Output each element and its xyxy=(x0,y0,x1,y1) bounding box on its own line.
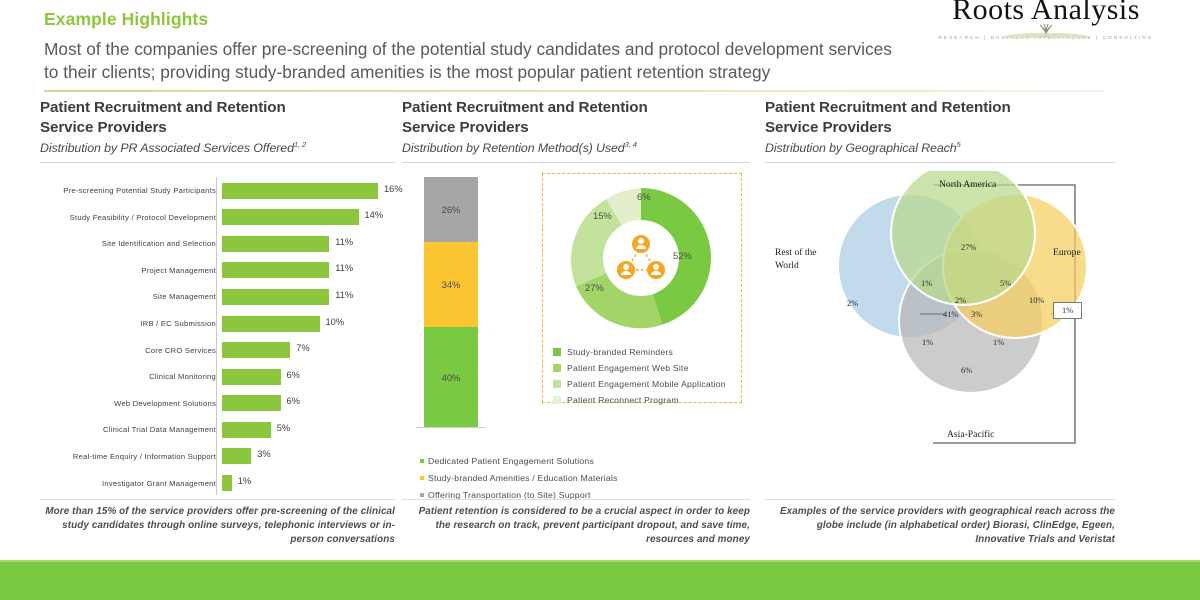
bar-row: Pre-screening Potential Study Participan… xyxy=(40,177,395,204)
bar-value: 6% xyxy=(287,396,300,406)
bar-fill xyxy=(222,422,271,438)
panel-services-offered: Patient Recruitment and Retention Servic… xyxy=(40,98,395,553)
panel2-title-line2: Service Providers xyxy=(402,118,750,138)
venn-value-center: 41% xyxy=(943,310,958,319)
stacked-segment: 34% xyxy=(424,242,478,327)
bar-row: Site Identification and Selection11% xyxy=(40,230,395,257)
donut-legend-item: Patient Engagement Web Site xyxy=(553,360,733,376)
bar-track: 11% xyxy=(222,236,395,252)
venn-value-na-eu-row: 2% xyxy=(955,296,966,305)
panel3-subtitle-sup: 5 xyxy=(957,140,961,149)
donut-legend-label: Study-branded Reminders xyxy=(567,347,673,357)
bar-value: 1% xyxy=(238,476,251,486)
panel3-note: Examples of the service providers with g… xyxy=(765,499,1115,547)
bar-fill xyxy=(222,395,281,411)
panel-retention-methods: Patient Recruitment and Retention Servic… xyxy=(402,98,750,553)
panel1-note: More than 15% of the service providers o… xyxy=(40,499,395,547)
panel1-title-line1: Patient Recruitment and Retention xyxy=(40,98,395,118)
bar-row: Clinical Monitoring6% xyxy=(40,363,395,390)
donut-legend-item: Patient Engagement Mobile Application xyxy=(553,376,733,392)
venn-value-na-eu-ap: 3% xyxy=(971,310,982,319)
legend-swatch-icon xyxy=(553,364,561,372)
panel1-divider xyxy=(40,162,395,163)
panel2-title-line1: Patient Recruitment and Retention xyxy=(402,98,750,118)
venn-label-north-america: North America xyxy=(939,179,996,192)
bar-row: Project Management11% xyxy=(40,257,395,284)
page-title: Most of the companies offer pre-screenin… xyxy=(44,38,1084,84)
bar-track: 7% xyxy=(222,342,395,358)
panel2-subtitle: Distribution by Retention Method(s) Used… xyxy=(402,140,750,155)
bar-label: Clinical Trial Data Management xyxy=(40,425,222,434)
venn-value-row-ap: 1% xyxy=(922,338,933,347)
stacked-legend-item: Study-branded Amenities / Education Mate… xyxy=(420,469,618,486)
venn-value-ap-only: 6% xyxy=(961,366,972,375)
venn-value-na-row: 1% xyxy=(921,279,932,288)
venn-value-eu-ap: 1% xyxy=(993,338,1004,347)
panel1-subtitle-sup: 1, 2 xyxy=(294,140,306,149)
panel3-subtitle: Distribution by Geographical Reach5 xyxy=(765,140,1115,155)
panel2-divider xyxy=(402,162,750,163)
bar-row: Study Feasibility / Protocol Development… xyxy=(40,204,395,231)
bar-value: 11% xyxy=(335,263,353,273)
donut-label-6: 6% xyxy=(637,191,651,202)
bar-track: 11% xyxy=(222,262,395,278)
panels-container: Patient Recruitment and Retention Servic… xyxy=(0,98,1200,553)
legend-swatch-icon xyxy=(553,348,561,356)
venn-value-na-eu: 5% xyxy=(1000,279,1011,288)
legend-swatch-icon xyxy=(420,459,424,463)
bar-label: Site Management xyxy=(40,292,222,301)
bar-label: Real-time Enquiry / Information Support xyxy=(40,452,222,461)
panel1-note-text: More than 15% of the service providers o… xyxy=(40,505,395,547)
stacked-bar-baseline xyxy=(416,427,486,428)
bar-track: 16% xyxy=(222,183,395,199)
tree-icon xyxy=(896,22,1196,36)
bar-row: Web Development Solutions6% xyxy=(40,390,395,417)
stacked-bar-legend: Dedicated Patient Engagement SolutionsSt… xyxy=(420,452,618,503)
bar-fill xyxy=(222,369,281,385)
eyebrow-label: Example Highlights xyxy=(44,9,208,30)
bar-label: IRB / EC Submission xyxy=(40,319,222,328)
bar-row: Clinical Trial Data Management5% xyxy=(40,417,395,444)
stacked-legend-label: Study-branded Amenities / Education Mate… xyxy=(428,473,618,483)
bar-track: 6% xyxy=(222,395,395,411)
bar-fill xyxy=(222,342,290,358)
bar-label: Investigator Grant Management xyxy=(40,479,222,488)
venn-rest-line1: Rest of the xyxy=(775,247,817,258)
bar-track: 10% xyxy=(222,316,395,332)
bar-value: 10% xyxy=(326,317,345,327)
footer-bar xyxy=(0,562,1200,600)
panel2-note-divider xyxy=(402,499,750,500)
bar-label: Study Feasibility / Protocol Development xyxy=(40,213,222,222)
donut-legend-item: Patient Reconnect Program xyxy=(553,392,733,408)
panel1-title-line2: Service Providers xyxy=(40,118,395,138)
venn-label-asia-pacific: Asia-Pacific xyxy=(947,429,994,442)
bar-row: IRB / EC Submission10% xyxy=(40,310,395,337)
bar-row: Site Management11% xyxy=(40,284,395,311)
bar-value: 11% xyxy=(335,237,353,247)
panel3-title-line2: Service Providers xyxy=(765,118,1115,138)
bar-fill xyxy=(222,262,329,278)
panel2-subtitle-sup: 3, 4 xyxy=(625,140,637,149)
bar-value: 16% xyxy=(384,184,403,194)
donut-label-27: 27% xyxy=(585,282,604,293)
bar-label: Project Management xyxy=(40,266,222,275)
bar-row: Core CRO Services7% xyxy=(40,337,395,364)
venn-diagram: North America Europe Asia-Pacific Rest o… xyxy=(765,171,1115,471)
stacked-bar-chart: 26%34%40% xyxy=(424,177,478,427)
bar-fill xyxy=(222,475,232,491)
donut-chart: 52% 27% 15% 6% xyxy=(561,178,721,338)
legend-swatch-icon xyxy=(420,493,424,497)
donut-legend-item: Study-branded Reminders xyxy=(553,344,733,360)
donut-label-15: 15% xyxy=(593,210,612,221)
venn-rest-line2: World xyxy=(775,260,799,271)
donut-legend: Study-branded RemindersPatient Engagemen… xyxy=(553,344,733,408)
headline-line-2: to their clients; providing study-brande… xyxy=(44,61,1084,84)
retention-chart-area: 26%34%40% xyxy=(402,177,750,477)
panel3-note-divider xyxy=(765,499,1115,500)
bar-label: Web Development Solutions xyxy=(40,399,222,408)
bar-label: Site Identification and Selection xyxy=(40,239,222,248)
venn-value-eu-only: 10% xyxy=(1029,296,1044,305)
bar-value: 11% xyxy=(335,290,353,300)
bar-value: 7% xyxy=(296,343,309,353)
venn-label-europe: Europe xyxy=(1053,247,1081,260)
donut-legend-label: Patient Engagement Web Site xyxy=(567,363,689,373)
bar-row: Real-time Enquiry / Information Support3… xyxy=(40,443,395,470)
donut-callout-box: 52% 27% 15% 6% Study-branded RemindersPa… xyxy=(542,173,742,403)
venn-value-row-only: 2% xyxy=(847,299,858,308)
panel2-subtitle-text: Distribution by Retention Method(s) Used xyxy=(402,141,625,155)
brand-logo: Roots Analysis RESEARCH | BUSINESS INTEL… xyxy=(896,0,1196,40)
bar-track: 5% xyxy=(222,422,395,438)
legend-swatch-icon xyxy=(553,396,561,404)
panel-geographical-reach: Patient Recruitment and Retention Servic… xyxy=(765,98,1115,553)
venn-value-na-only: 27% xyxy=(961,243,976,252)
slide-root: Roots Analysis RESEARCH | BUSINESS INTEL… xyxy=(0,0,1200,600)
donut-legend-label: Patient Reconnect Program xyxy=(567,395,679,405)
stacked-legend-label: Dedicated Patient Engagement Solutions xyxy=(428,456,594,466)
panel3-subtitle-text: Distribution by Geographical Reach xyxy=(765,141,957,155)
panel1-subtitle-text: Distribution by PR Associated Services O… xyxy=(40,141,294,155)
bar-fill xyxy=(222,209,359,225)
bar-track: 14% xyxy=(222,209,395,225)
venn-label-rest-of-world: Rest of the World xyxy=(775,247,817,273)
bar-value: 6% xyxy=(287,370,300,380)
bar-label: Core CRO Services xyxy=(40,346,222,355)
donut-svg xyxy=(561,178,721,338)
panel3-divider xyxy=(765,162,1115,163)
bar-fill xyxy=(222,448,251,464)
bar-fill xyxy=(222,236,329,252)
panel1-subtitle: Distribution by PR Associated Services O… xyxy=(40,140,395,155)
bar-track: 11% xyxy=(222,289,395,305)
panel1-note-divider xyxy=(40,499,395,500)
bar-fill xyxy=(222,289,329,305)
bar-label: Clinical Monitoring xyxy=(40,372,222,381)
bar-label: Pre-screening Potential Study Participan… xyxy=(40,186,222,195)
panel2-note-text: Patient retention is considered to be a … xyxy=(402,505,750,547)
panel3-title: Patient Recruitment and Retention Servic… xyxy=(765,98,1115,138)
horizontal-bar-chart: Pre-screening Potential Study Participan… xyxy=(40,177,395,495)
panel2-title: Patient Recruitment and Retention Servic… xyxy=(402,98,750,138)
panel3-note-text: Examples of the service providers with g… xyxy=(765,505,1115,547)
stacked-legend-item: Dedicated Patient Engagement Solutions xyxy=(420,452,618,469)
bar-row: Investigator Grant Management1% xyxy=(40,470,395,497)
panel2-note: Patient retention is considered to be a … xyxy=(402,499,750,547)
donut-legend-label: Patient Engagement Mobile Application xyxy=(567,379,726,389)
bar-value: 5% xyxy=(277,423,290,433)
bar-track: 3% xyxy=(222,448,395,464)
bar-fill xyxy=(222,183,378,199)
bar-track: 6% xyxy=(222,369,395,385)
stacked-segment: 40% xyxy=(424,327,478,427)
bar-track: 1% xyxy=(222,475,395,491)
legend-swatch-icon xyxy=(420,476,424,480)
bar-fill xyxy=(222,316,320,332)
donut-label-52: 52% xyxy=(673,250,692,261)
stacked-segment: 26% xyxy=(424,177,478,242)
headline-line-1: Most of the companies offer pre-screenin… xyxy=(44,38,1084,61)
legend-swatch-icon xyxy=(553,380,561,388)
bar-value: 14% xyxy=(365,210,384,220)
panel1-title: Patient Recruitment and Retention Servic… xyxy=(40,98,395,138)
header-divider xyxy=(44,90,1104,92)
venn-callout: 1% xyxy=(1053,302,1082,319)
panel3-title-line1: Patient Recruitment and Retention xyxy=(765,98,1115,118)
bar-value: 3% xyxy=(257,449,270,459)
